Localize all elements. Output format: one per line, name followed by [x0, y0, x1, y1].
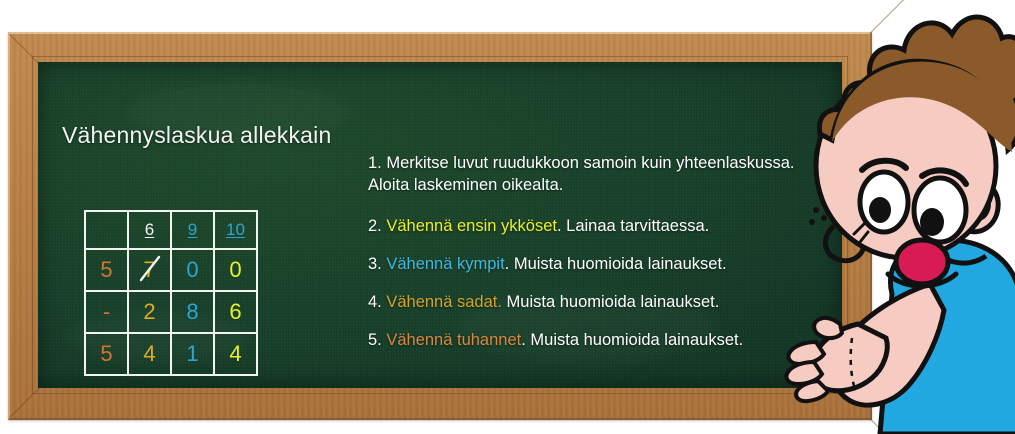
grid-cell-0-1: 6 [128, 211, 171, 249]
instruction-step-5: 5. Vähennä tuhannet. Muista huomioida la… [368, 329, 838, 351]
step-number: 5. [368, 331, 382, 349]
step-highlight: Vähennä kympit [382, 255, 505, 273]
grid-cell-value: 2 [143, 299, 155, 324]
step-highlight: Vähennä ensin ykköset [382, 217, 557, 235]
grid-cell-value: 6 [229, 299, 241, 324]
step-text: . Lainaa tarvittaessa. [557, 217, 709, 235]
grid-cell-value: 5 [100, 257, 112, 282]
step-highlight: Vähennä sadat. [382, 293, 502, 311]
step-number: 3. [368, 255, 382, 273]
grid-cell-1-2: 0 [171, 249, 214, 291]
step-highlight: Vähennä tuhannet [382, 331, 521, 349]
instruction-list: 1. Merkitse luvut ruudukkoon samoin kuin… [368, 152, 838, 368]
step-text: Muista huomioida lainaukset. [502, 293, 719, 311]
instruction-step-4: 4. Vähennä sadat. Muista huomioida laina… [368, 291, 838, 313]
step-text: . Muista huomioida lainaukset. [521, 331, 743, 349]
grid-cell-3-2: 1 [171, 333, 214, 375]
grid-row-subtrahend-row: -286 [85, 291, 257, 333]
struck-digit: 7 [143, 257, 155, 283]
boy-freckle [821, 215, 827, 221]
subtraction-grid-body: 69105700-2865414 [85, 211, 257, 375]
grid-cell-value: - [103, 299, 110, 324]
grid-cell-3-0: 5 [85, 333, 128, 375]
grid-row-result-row: 5414 [85, 333, 257, 375]
grid-cell-2-1: 2 [128, 291, 171, 333]
grid-cell-value: 6 [145, 220, 154, 239]
grid-row-minuend-row: 5700 [85, 249, 257, 291]
step-text: . Muista huomioida lainaukset. [505, 255, 727, 273]
boy-pupil-left [869, 197, 891, 223]
grid-cell-2-0: - [85, 291, 128, 333]
step-number: 4. [368, 293, 382, 311]
grid-cell-value: 9 [188, 220, 197, 239]
grid-cell-3-1: 4 [128, 333, 171, 375]
grid-cell-1-0: 5 [85, 249, 128, 291]
grid-cell-value: 7 [143, 257, 155, 282]
grid-row-carry-row: 6910 [85, 211, 257, 249]
step-text: Merkitse luvut ruudukkoon samoin kuin yh… [368, 154, 794, 194]
grid-cell-value: 8 [186, 299, 198, 324]
grid-cell-value: 0 [229, 257, 241, 282]
instruction-step-2: 2. Vähennä ensin ykköset. Lainaa tarvitt… [368, 215, 838, 237]
step-number: 1. [368, 154, 382, 172]
slide-canvas: Vähennyslaskua allekkain 69105700-286541… [0, 0, 1015, 434]
grid-cell-2-3: 6 [214, 291, 257, 333]
page-title: Vähennyslaskua allekkain [62, 122, 331, 149]
grid-cell-value: 4 [143, 341, 155, 366]
chalkboard-frame: Vähennyslaskua allekkain 69105700-286541… [8, 32, 872, 420]
grid-cell-value: 5 [100, 341, 112, 366]
grid-cell-0-3: 10 [214, 211, 257, 249]
grid-cell-value: 1 [186, 341, 198, 366]
boy-pupil-right [920, 208, 944, 236]
grid-cell-0-0 [85, 211, 128, 249]
cartoon-boy-illustration [780, 0, 1015, 434]
boy-thumb [814, 318, 842, 338]
grid-cell-1-3: 0 [214, 249, 257, 291]
grid-cell-0-2: 9 [171, 211, 214, 249]
boy-freckle [809, 219, 815, 225]
grid-cell-value: 10 [226, 220, 245, 239]
grid-cell-3-3: 4 [214, 333, 257, 375]
grid-cell-value: 0 [186, 257, 198, 282]
instruction-step-3: 3. Vähennä kympit. Muista huomioida lain… [368, 253, 838, 275]
step-number: 2. [368, 217, 382, 235]
boy-freckle [813, 207, 819, 213]
boy-tongue [896, 240, 948, 284]
grid-cell-value: 4 [229, 341, 241, 366]
chalkboard-surface: Vähennyslaskua allekkain 69105700-286541… [38, 62, 842, 388]
grid-cell-1-1: 7 [128, 249, 171, 291]
grid-cell-2-2: 8 [171, 291, 214, 333]
instruction-step-1: 1. Merkitse luvut ruudukkoon samoin kuin… [368, 152, 838, 197]
subtraction-grid: 69105700-2865414 [84, 210, 258, 376]
